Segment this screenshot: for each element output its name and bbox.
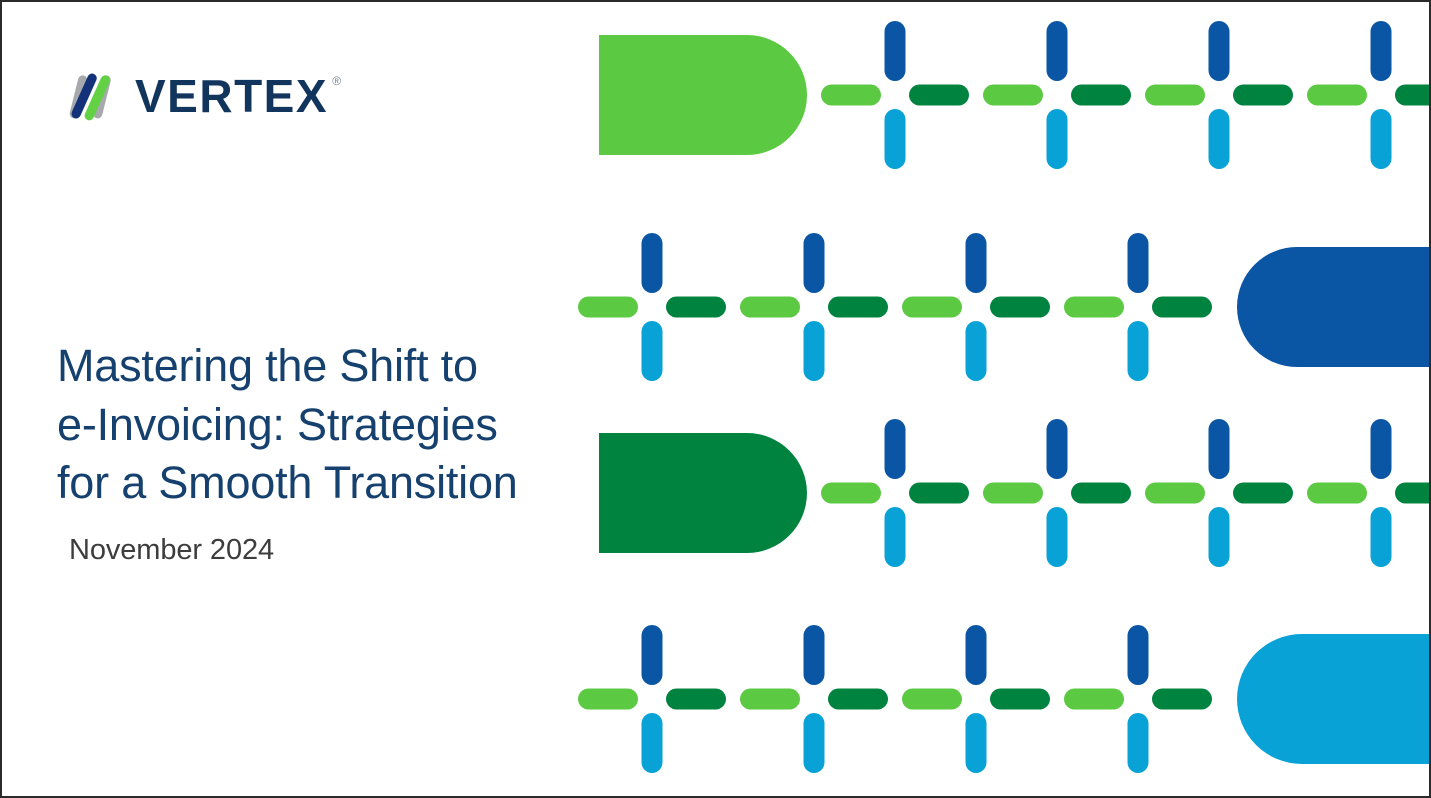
cross-arm-left bbox=[1307, 85, 1367, 106]
light-blue-pill-shape bbox=[1237, 634, 1431, 764]
cross-arm-bottom bbox=[1371, 109, 1392, 169]
decoration-row bbox=[578, 625, 1431, 773]
cross-arm-top bbox=[1371, 419, 1392, 479]
dark-blue-pill bbox=[1237, 247, 1431, 367]
cross-arm-right bbox=[990, 297, 1050, 318]
cross-mark bbox=[1307, 21, 1431, 169]
title-line-1: Mastering the Shift to bbox=[57, 340, 478, 391]
cross-arm-right bbox=[990, 689, 1050, 710]
cross-arm-right bbox=[1071, 85, 1131, 106]
cross-arm-bottom bbox=[1128, 321, 1149, 381]
cross-arm-right bbox=[1233, 483, 1293, 504]
cross-arm-bottom bbox=[1047, 507, 1068, 567]
cross-arm-top bbox=[966, 625, 987, 685]
dark-green-pill-shape bbox=[599, 433, 807, 553]
cross-mark bbox=[983, 419, 1131, 567]
cross-arm-top bbox=[1209, 419, 1230, 479]
cross-arm-left bbox=[983, 483, 1043, 504]
cross-arm-left bbox=[821, 483, 881, 504]
cross-mark bbox=[740, 625, 888, 773]
cross-mark bbox=[1307, 419, 1431, 567]
cross-arm-bottom bbox=[804, 713, 825, 773]
cross-arm-right bbox=[909, 85, 969, 106]
cross-arm-top bbox=[804, 233, 825, 293]
cross-arm-top bbox=[885, 419, 906, 479]
vertex-logo[interactable]: VERTEX® bbox=[64, 60, 328, 132]
decoration-group bbox=[578, 21, 1431, 773]
page-title: Mastering the Shift to e-Invoicing: Stra… bbox=[57, 337, 587, 513]
dark-blue-pill-shape bbox=[1237, 247, 1431, 367]
light-blue-pill bbox=[1237, 634, 1431, 764]
cross-arm-top bbox=[1047, 21, 1068, 81]
cross-arm-left bbox=[1307, 483, 1367, 504]
cross-arm-right bbox=[909, 483, 969, 504]
cross-arm-top bbox=[642, 233, 663, 293]
cross-arm-top bbox=[966, 233, 987, 293]
cross-arm-bottom bbox=[642, 713, 663, 773]
cross-arm-bottom bbox=[885, 507, 906, 567]
decoration-row bbox=[599, 419, 1431, 567]
slide-date: November 2024 bbox=[69, 534, 274, 567]
cross-arm-right bbox=[666, 689, 726, 710]
cross-arm-bottom bbox=[1047, 109, 1068, 169]
cross-arm-left bbox=[902, 297, 962, 318]
cross-arm-top bbox=[1128, 233, 1149, 293]
cross-arm-left bbox=[1145, 483, 1205, 504]
cross-arm-right bbox=[1152, 297, 1212, 318]
cross-arm-bottom bbox=[966, 321, 987, 381]
cross-arm-right bbox=[1233, 85, 1293, 106]
cross-mark bbox=[1064, 233, 1212, 381]
vertex-logo-mark-icon bbox=[64, 67, 122, 125]
cross-mark bbox=[983, 21, 1131, 169]
cross-arm-bottom bbox=[1128, 713, 1149, 773]
light-green-pill-shape bbox=[599, 35, 807, 155]
cross-mark bbox=[740, 233, 888, 381]
cross-arm-top bbox=[1209, 21, 1230, 81]
cross-arm-left bbox=[1064, 689, 1124, 710]
title-slide: VERTEX® Mastering the Shift to e-Invoici… bbox=[0, 0, 1431, 798]
cross-mark bbox=[821, 419, 969, 567]
cross-arm-right bbox=[1395, 483, 1431, 504]
cross-arm-right bbox=[828, 689, 888, 710]
dark-green-pill bbox=[599, 433, 807, 553]
cross-arm-top bbox=[1047, 419, 1068, 479]
cross-arm-top bbox=[804, 625, 825, 685]
cross-mark bbox=[902, 625, 1050, 773]
cross-arm-right bbox=[666, 297, 726, 318]
decoration-row bbox=[599, 21, 1431, 169]
decoration-row bbox=[578, 233, 1431, 381]
cross-arm-right bbox=[1071, 483, 1131, 504]
light-green-pill bbox=[599, 35, 807, 155]
registered-trademark-icon: ® bbox=[332, 75, 341, 87]
vertex-wordmark: VERTEX® bbox=[135, 73, 328, 119]
cross-arm-left bbox=[902, 689, 962, 710]
cross-arm-left bbox=[983, 85, 1043, 106]
cross-arm-bottom bbox=[1209, 507, 1230, 567]
cross-mark bbox=[1145, 21, 1293, 169]
cross-arm-left bbox=[740, 689, 800, 710]
cross-mark bbox=[1145, 419, 1293, 567]
cross-arm-top bbox=[1128, 625, 1149, 685]
cross-arm-right bbox=[1395, 85, 1431, 106]
cross-arm-right bbox=[828, 297, 888, 318]
cross-mark bbox=[1064, 625, 1212, 773]
cross-arm-top bbox=[642, 625, 663, 685]
title-line-2: e-Invoicing: Strategies bbox=[57, 399, 498, 450]
cross-arm-top bbox=[1371, 21, 1392, 81]
cross-arm-bottom bbox=[1371, 507, 1392, 567]
content-column: VERTEX® Mastering the Shift to e-Invoici… bbox=[2, 2, 602, 796]
cross-arm-bottom bbox=[966, 713, 987, 773]
cross-arm-left bbox=[1064, 297, 1124, 318]
cross-arm-bottom bbox=[804, 321, 825, 381]
vertex-wordmark-text: VERTEX bbox=[135, 70, 328, 122]
cross-arm-bottom bbox=[642, 321, 663, 381]
cross-arm-left bbox=[1145, 85, 1205, 106]
title-line-3: for a Smooth Transition bbox=[57, 457, 518, 508]
cross-mark bbox=[821, 21, 969, 169]
cross-arm-left bbox=[740, 297, 800, 318]
cross-arm-bottom bbox=[885, 109, 906, 169]
cross-mark bbox=[902, 233, 1050, 381]
cross-arm-bottom bbox=[1209, 109, 1230, 169]
cross-arm-right bbox=[1152, 689, 1212, 710]
cross-arm-top bbox=[885, 21, 906, 81]
cross-arm-left bbox=[821, 85, 881, 106]
